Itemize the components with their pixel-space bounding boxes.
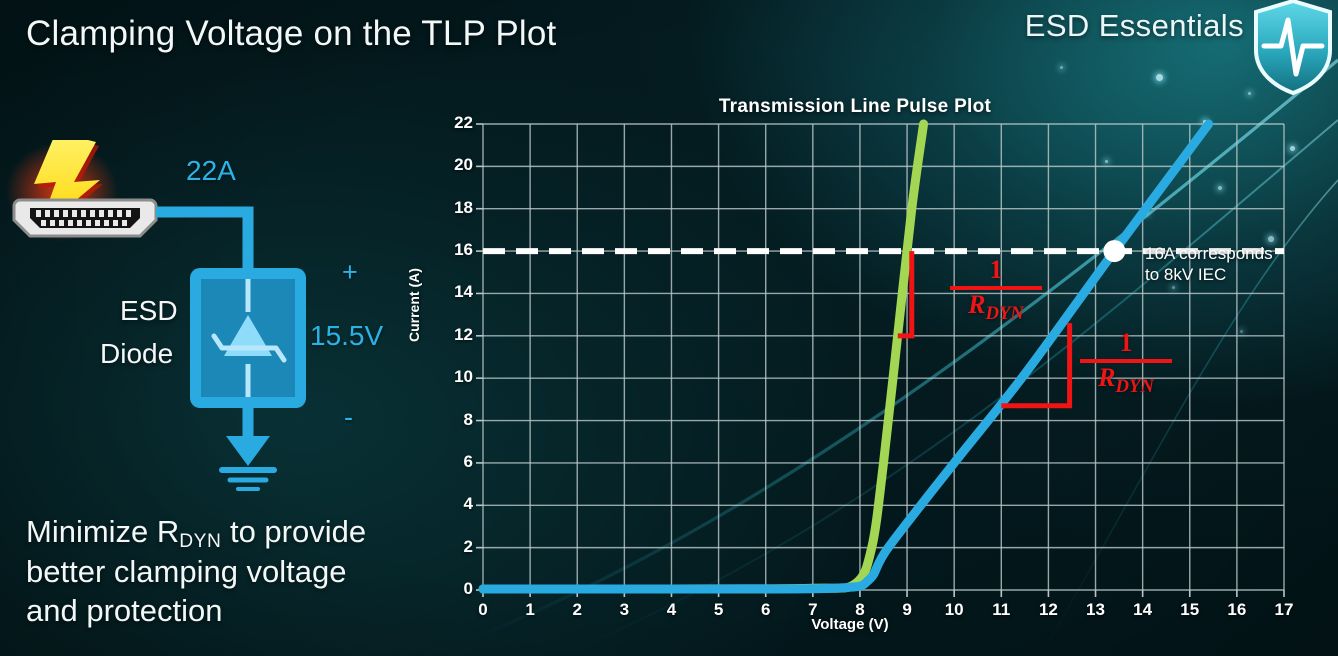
device-label-line2: Diode xyxy=(100,338,173,370)
tlp-chart: Transmission Line Pulse Plot Current (A)… xyxy=(410,92,1338,652)
ground-icon xyxy=(222,470,274,489)
slope-denominator: RDYN xyxy=(950,291,1042,324)
summary-note: Minimize RDYN to provide better clamping… xyxy=(26,512,446,631)
note-line2: better clamping voltage xyxy=(26,554,347,589)
esd-protection-circuit: 22A ESD Diode 15.5V + - xyxy=(0,140,430,510)
page-title: Clamping Voltage on the TLP Plot xyxy=(26,14,556,54)
brand-label: ESD Essentials xyxy=(1025,8,1244,44)
data-point-marker-0 xyxy=(1103,240,1125,262)
plot-area xyxy=(410,92,1338,652)
fraction-bar xyxy=(1080,359,1172,363)
current-label: 22A xyxy=(186,155,236,187)
clamp-voltage-label: 15.5V xyxy=(310,320,383,352)
note-line1-sub: DYN xyxy=(179,531,221,552)
note-line3: and protection xyxy=(26,593,222,628)
series-line-0 xyxy=(483,124,924,589)
slide-canvas: Clamping Voltage on the TLP Plot ESD Ess… xyxy=(0,0,1338,656)
terminal-minus-label: - xyxy=(344,402,353,433)
fraction-bar xyxy=(950,286,1042,290)
slope-numerator: 1 xyxy=(950,257,1042,283)
slope-denominator: RDYN xyxy=(1080,364,1172,397)
note-line1-post: to provide xyxy=(221,514,366,549)
marker-annotation: 16A corresponds to 8kV IEC xyxy=(1145,244,1273,285)
shield-pulse-icon xyxy=(1250,0,1336,98)
device-label-line1: ESD xyxy=(120,295,178,327)
hdmi-connector-icon xyxy=(14,200,156,236)
terminal-plus-label: + xyxy=(342,257,358,288)
note-line1-pre: Minimize R xyxy=(26,514,179,549)
slope-numerator: 1 xyxy=(1080,330,1172,356)
slope-label-high-rdyn: 1 RDYN xyxy=(1080,330,1172,397)
slope-label-low-rdyn: 1 RDYN xyxy=(950,257,1042,324)
